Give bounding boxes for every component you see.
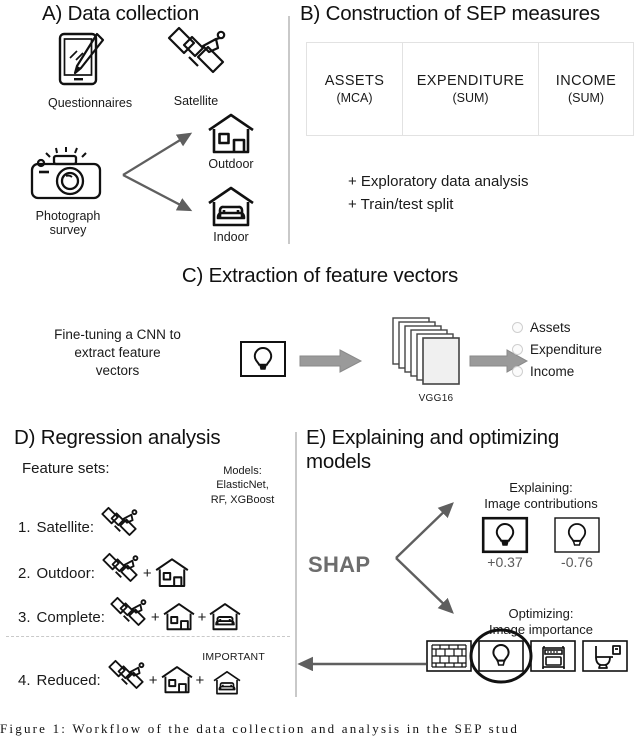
models-block: Models: ElasticNet, RF, XGBoost [190,464,295,507]
lightbulb-image-icon [479,517,531,553]
feature-set-2-number: 2. [18,565,31,582]
panel-c-description-line1: Fine-tuning a CNN to [20,326,215,344]
satellite-icon [98,506,140,548]
models-line2: RF, XGBoost [190,493,295,507]
panel-c-title: C) Extraction of feature vectors [0,264,640,288]
satellite-label: Satellite [162,94,230,108]
camera-icon [26,148,110,206]
sep-column-income-name: INCOME [556,73,616,89]
explaining-block: Explaining: Image contributions +0.37 [442,480,640,570]
selection-circle-icon [469,628,533,684]
models-label: Models: [190,464,295,478]
cnn-output-assets[interactable]: Assets [512,320,602,335]
optimizing-heading-line1: Optimizing: [442,606,640,622]
panel-b-title: B) Construction of SEP measures [300,2,600,26]
feature-set-2: 2. Outdoor: + [18,552,190,594]
cnn-output-expenditure-label: Expenditure [530,342,602,357]
panel-d: D) Regression analysis Feature sets: Mod… [0,424,295,714]
cnn-outputs: Assets Expenditure Income [512,320,602,386]
panel-c: C) Extraction of feature vectors Fine-tu… [0,256,640,416]
panel-a-title: A) Data collection [42,2,199,26]
models-line1: ElasticNet, [190,478,295,492]
shap-label: SHAP [308,552,370,578]
house-indoor-sofa-icon [206,185,256,229]
feature-set-1-number: 1. [18,519,31,536]
panel-c-description-line2: extract feature [20,344,215,362]
sep-column-income-method: (SUM) [568,91,604,105]
panel-d-dashed-divider [6,636,290,637]
panel-a: A) Data collection Questionnaires [0,0,288,250]
feature-set-3-name: Complete: [37,609,105,626]
sep-column-assets: ASSETS (MCA) [307,43,403,135]
questionnaires-label: Questionnaires [48,96,114,110]
cnn-output-assets-label: Assets [530,320,571,335]
branch-arrows [118,128,208,220]
vgg16-stack-group: VGG16 [369,316,479,404]
stove-image-icon [530,640,576,672]
sep-column-assets-method: (MCA) [336,91,372,105]
vgg16-layer-stack [369,316,479,394]
explaining-image-0: +0.37 [479,517,531,570]
satellite-icon [105,659,147,701]
indoor-group: Indoor [206,185,256,244]
house-indoor-sofa-icon [212,670,242,696]
house-outdoor-icon [162,602,196,632]
feature-sets-label: Feature sets: [22,460,110,477]
sep-measures-table: ASSETS (MCA) EXPENDITURE (SUM) INCOME (S… [306,42,634,136]
sep-column-expenditure-method: (SUM) [452,91,488,105]
explaining-heading-line2: Image contributions [442,496,640,512]
feature-set-4: 4. Reduced: + + IMPORTANT [18,659,250,701]
photograph-survey-label-line1: Photograph [26,209,110,223]
house-indoor-sofa-icon [208,602,242,632]
radio-icon[interactable] [512,366,523,377]
feature-set-2-plus: + [143,565,152,582]
sep-column-income: INCOME (SUM) [539,43,633,135]
photograph-survey-label-line2: survey [26,223,110,237]
panel-c-description-line3: vectors [20,362,215,380]
feature-set-3: 3. Complete: + + [18,596,242,638]
explaining-image-1-value: -0.76 [551,554,603,570]
panel-e-title-line1: E) Explaining and optimizing [306,426,559,450]
toilet-image-icon [582,640,628,672]
lightbulb-image-icon [551,517,603,553]
feature-set-4-number: 4. [18,672,31,689]
importance-image-selected-wrap [478,640,524,672]
panel-d-title: D) Regression analysis [14,426,220,450]
figure-workflow: A) Data collection Questionnaires [0,0,640,733]
house-outdoor-icon [154,557,190,589]
vgg16-label: VGG16 [369,393,479,404]
satellite-icon [99,552,141,594]
photograph-survey-group: Photograph survey [26,148,110,238]
cnn-arrow-1 [300,350,362,372]
outdoor-label: Outdoor [206,157,256,171]
sep-column-expenditure-name: EXPENDITURE [417,73,525,89]
satellite-group: Satellite [162,26,230,108]
panel-e-title-line2: models [306,450,371,474]
importance-image-row [426,640,628,672]
brick-wall-image-icon [426,640,472,672]
feature-set-2-name: Outdoor: [37,565,95,582]
feature-set-3-number: 3. [18,609,31,626]
radio-icon[interactable] [512,344,523,355]
cnn-output-income-label: Income [530,364,574,379]
feature-set-1: 1. Satellite: [18,506,140,548]
satellite-icon [162,26,230,92]
panel-divider-vertical-top [288,16,290,244]
panel-b-bullet-1: + Train/test split [348,193,529,216]
panel-c-description: Fine-tuning a CNN to extract feature vec… [20,326,215,381]
house-outdoor-icon [160,665,194,695]
panel-b-bullet-0: + Exploratory data analysis [348,170,529,193]
cnn-input-image [240,341,286,377]
cnn-output-income[interactable]: Income [512,364,602,379]
explaining-heading-line1: Explaining: [442,480,640,496]
sep-column-assets-name: ASSETS [325,73,385,89]
indoor-label: Indoor [206,230,256,244]
outdoor-group: Outdoor [206,112,256,171]
figure-caption: Figure 1: Workflow of the data collectio… [0,720,640,739]
sep-column-expenditure: EXPENDITURE (SUM) [403,43,539,135]
satellite-icon [107,596,149,638]
feature-set-4-plus-2: + [196,672,205,689]
questionnaires-group: Questionnaires [48,28,114,110]
feature-set-1-name: Satellite: [37,519,95,536]
cnn-output-expenditure[interactable]: Expenditure [512,342,602,357]
important-label: IMPORTANT [202,651,254,663]
radio-icon[interactable] [512,322,523,333]
feedback-arrow [294,654,430,674]
panel-b-bullets: + Exploratory data analysis + Train/test… [348,170,529,217]
house-outdoor-icon [206,112,256,156]
feature-set-3-plus-2: + [198,609,207,626]
explaining-image-0-value: +0.37 [479,554,531,570]
feature-set-4-plus-1: + [149,672,158,689]
tablet-stylus-icon [48,28,114,94]
lightbulb-image-icon [240,341,286,377]
panel-e: E) Explaining and optimizing models SHAP… [302,424,640,714]
explaining-image-1: -0.76 [551,517,603,570]
feature-set-3-plus-1: + [151,609,160,626]
panel-b: B) Construction of SEP measures ASSETS (… [296,0,640,250]
feature-set-4-name: Reduced: [37,672,101,689]
